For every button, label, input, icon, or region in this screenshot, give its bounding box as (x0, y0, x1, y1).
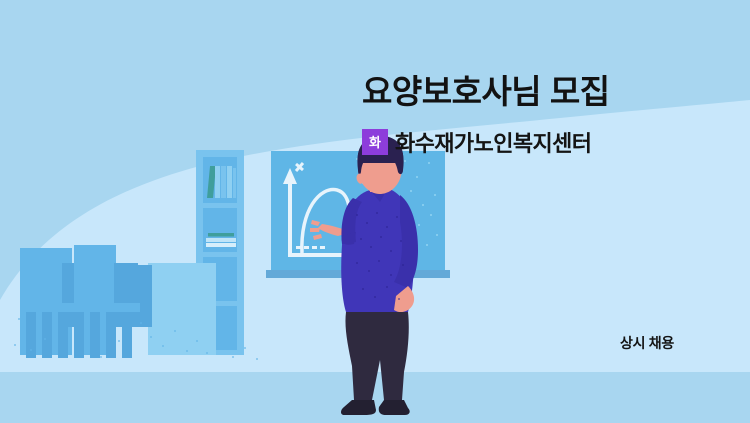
organization-row: 화 화수재가노인복지센터 (362, 126, 702, 158)
organization-badge: 화 (362, 129, 388, 155)
hiring-status-note: 상시 채용 (620, 333, 674, 353)
organization-name: 화수재가노인복지센터 (395, 126, 591, 158)
books-horizontal (206, 233, 236, 247)
illustration-scene (0, 0, 750, 423)
poster-canvas: 요양보호사님 모집 화 화수재가노인복지센터 상시 채용 (0, 0, 750, 423)
presenter-shoe-right (379, 400, 410, 415)
page-title: 요양보호사님 모집 (362, 74, 702, 111)
poster-text-block: 요양보호사님 모집 화 화수재가노인복지센터 (362, 74, 702, 158)
books-vertical (207, 166, 236, 198)
